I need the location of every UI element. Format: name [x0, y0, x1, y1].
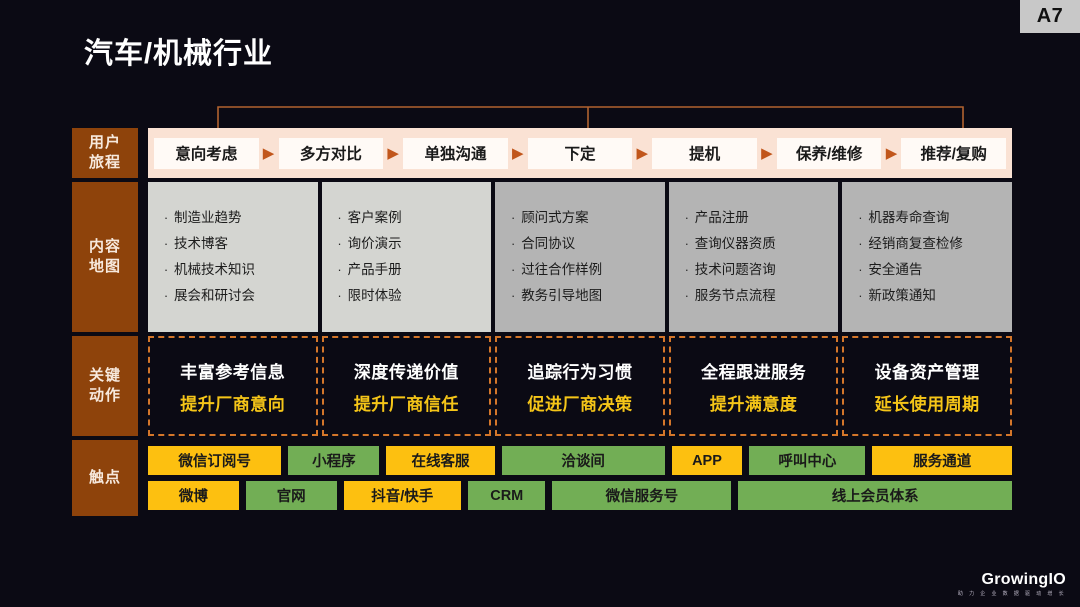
journey-arrow-icon: ▶ — [259, 146, 279, 161]
touchpoint-chip[interactable]: 服务通道 — [872, 446, 1012, 475]
key-action-cell: 追踪行为习惯促进厂商决策 — [495, 336, 665, 436]
content-map-item-label: 客户案例 — [348, 205, 402, 231]
key-action-goal: 促进厂商决策 — [527, 390, 632, 415]
journey-matrix: 用户 旅程 意向考虑▶多方对比▶单独沟通▶下定▶提机▶保养/维修▶推荐/复购 内… — [72, 128, 1012, 520]
journey-step[interactable]: 推荐/复购 — [901, 138, 1006, 169]
touchpoint-chip[interactable]: 线上会员体系 — [738, 481, 1012, 510]
content-map-item-label: 机械技术知识 — [174, 257, 255, 283]
content-map-item-label: 新政策通知 — [868, 283, 936, 309]
row-label-line2: 地图 — [89, 257, 121, 277]
key-action-goal: 提升厂商意向 — [180, 390, 285, 415]
content-map-item-label: 产品手册 — [348, 257, 402, 283]
content-map-item: ·机器寿命查询 — [852, 205, 1008, 231]
content-map-item: ·技术问题咨询 — [679, 257, 835, 283]
content-map-item: ·限时体验 — [332, 283, 488, 309]
row-label-line1: 关键 — [89, 366, 121, 386]
content-map-item: ·客户案例 — [332, 205, 488, 231]
content-map-item: ·询价演示 — [332, 231, 488, 257]
row-label-key-actions: 关键 动作 — [72, 336, 138, 436]
content-map-item: ·机械技术知识 — [158, 257, 314, 283]
row-label-content-map: 内容 地图 — [72, 182, 138, 332]
content-map-item-label: 机器寿命查询 — [868, 205, 949, 231]
content-map-item-label: 安全通告 — [868, 257, 922, 283]
journey-arrow-icon: ▶ — [632, 146, 652, 161]
bullet-icon: · — [332, 231, 348, 257]
key-action-goal: 延长使用周期 — [875, 390, 980, 415]
row-label-user-journey: 用户 旅程 — [72, 128, 138, 178]
brand-name: GrowingIO — [958, 571, 1066, 589]
content-map-cell: ·制造业趋势·技术博客·机械技术知识·展会和研讨会 — [148, 182, 318, 332]
row-label-line1: 触点 — [89, 468, 121, 488]
content-map-item-label: 询价演示 — [348, 231, 402, 257]
bullet-icon: · — [332, 257, 348, 283]
bullet-icon: · — [505, 231, 521, 257]
content-map-item: ·合同协议 — [505, 231, 661, 257]
touchpoint-chip[interactable]: CRM — [468, 481, 546, 510]
row-label-line2: 动作 — [89, 386, 121, 406]
key-action-cell: 全程跟进服务提升满意度 — [669, 336, 839, 436]
content-map-cell: ·顾问式方案·合同协议·过往合作样例·教务引导地图 — [495, 182, 665, 332]
bullet-icon: · — [679, 283, 695, 309]
bullet-icon: · — [158, 257, 174, 283]
content-map-item-label: 查询仪器资质 — [695, 231, 776, 257]
bullet-icon: · — [505, 257, 521, 283]
key-action-goal: 提升满意度 — [710, 390, 798, 415]
touchpoint-line-1: 微信订阅号小程序在线客服洽谈间APP呼叫中心服务通道 — [148, 446, 1012, 475]
touchpoint-chip[interactable]: 小程序 — [288, 446, 379, 475]
row-label-line1: 用户 — [89, 133, 121, 153]
content-map-item-label: 过往合作样例 — [521, 257, 602, 283]
touchpoint-chip[interactable]: 官网 — [246, 481, 337, 510]
bullet-icon: · — [679, 257, 695, 283]
content-map-item-label: 产品注册 — [695, 205, 749, 231]
row-user-journey: 用户 旅程 意向考虑▶多方对比▶单独沟通▶下定▶提机▶保养/维修▶推荐/复购 — [72, 128, 1012, 178]
content-map-item: ·新政策通知 — [852, 283, 1008, 309]
touchpoint-chip[interactable]: 微博 — [148, 481, 239, 510]
content-map-item: ·产品手册 — [332, 257, 488, 283]
touchpoint-chip[interactable]: 抖音/快手 — [344, 481, 461, 510]
bullet-icon: · — [852, 283, 868, 309]
content-map-item: ·顾问式方案 — [505, 205, 661, 231]
content-map-cell: ·产品注册·查询仪器资质·技术问题咨询·服务节点流程 — [669, 182, 839, 332]
content-map-cell: ·客户案例·询价演示·产品手册·限时体验 — [322, 182, 492, 332]
content-map-item-label: 教务引导地图 — [521, 283, 602, 309]
content-map-item: ·教务引导地图 — [505, 283, 661, 309]
journey-arrow-icon: ▶ — [881, 146, 901, 161]
content-map-item: ·技术博客 — [158, 231, 314, 257]
touchpoint-chip[interactable]: 微信服务号 — [552, 481, 731, 510]
content-map-item-label: 制造业趋势 — [174, 205, 242, 231]
touchpoint-chip[interactable]: APP — [672, 446, 743, 475]
journey-step[interactable]: 下定 — [528, 138, 633, 169]
page-title: 汽车/机械行业 — [84, 30, 273, 72]
key-action-title: 追踪行为习惯 — [527, 358, 632, 383]
journey-arrow-icon: ▶ — [508, 146, 528, 161]
content-map-item-label: 经销商复查检修 — [868, 231, 963, 257]
key-action-goal: 提升厂商信任 — [354, 390, 459, 415]
row-body-user-journey: 意向考虑▶多方对比▶单独沟通▶下定▶提机▶保养/维修▶推荐/复购 — [148, 128, 1012, 178]
content-map-item: ·服务节点流程 — [679, 283, 835, 309]
journey-step[interactable]: 保养/维修 — [777, 138, 882, 169]
key-action-title: 全程跟进服务 — [701, 358, 806, 383]
content-map-item-label: 技术博客 — [174, 231, 228, 257]
bullet-icon: · — [332, 205, 348, 231]
row-body-key-actions: 丰富参考信息提升厂商意向深度传递价值提升厂商信任追踪行为习惯促进厂商决策全程跟进… — [148, 336, 1012, 436]
content-map-item-label: 限时体验 — [348, 283, 402, 309]
content-map-item-label: 顾问式方案 — [521, 205, 589, 231]
content-map-item: ·产品注册 — [679, 205, 835, 231]
row-label-line1: 内容 — [89, 237, 121, 257]
row-touchpoints: 触点 微信订阅号小程序在线客服洽谈间APP呼叫中心服务通道 微博官网抖音/快手C… — [72, 440, 1012, 516]
touchpoint-chip[interactable]: 呼叫中心 — [749, 446, 865, 475]
key-action-cell: 丰富参考信息提升厂商意向 — [148, 336, 318, 436]
key-action-title: 丰富参考信息 — [180, 358, 285, 383]
row-key-actions: 关键 动作 丰富参考信息提升厂商意向深度传递价值提升厂商信任追踪行为习惯促进厂商… — [72, 336, 1012, 436]
row-content-map: 内容 地图 ·制造业趋势·技术博客·机械技术知识·展会和研讨会·客户案例·询价演… — [72, 182, 1012, 332]
brand-logo: GrowingIO 助 力 企 业 数 据 驱 动 增 长 — [958, 571, 1066, 597]
bullet-icon: · — [679, 231, 695, 257]
bullet-icon: · — [158, 283, 174, 309]
content-map-item-label: 技术问题咨询 — [695, 257, 776, 283]
touchpoint-chip[interactable]: 在线客服 — [386, 446, 494, 475]
content-map-item: ·过往合作样例 — [505, 257, 661, 283]
row-label-line2: 旅程 — [89, 153, 121, 173]
key-action-title: 设备资产管理 — [875, 358, 980, 383]
touchpoint-line-2: 微博官网抖音/快手CRM微信服务号线上会员体系 — [148, 481, 1012, 510]
journey-step[interactable]: 单独沟通 — [403, 138, 508, 169]
touchpoint-chip[interactable]: 洽谈间 — [502, 446, 665, 475]
journey-step[interactable]: 多方对比 — [279, 138, 384, 169]
bullet-icon: · — [158, 205, 174, 231]
journey-arrow-icon: ▶ — [757, 146, 777, 161]
content-map-item-label: 服务节点流程 — [695, 283, 776, 309]
bullet-icon: · — [852, 205, 868, 231]
brand-tagline: 助 力 企 业 数 据 驱 动 增 长 — [958, 590, 1066, 597]
bullet-icon: · — [505, 205, 521, 231]
row-label-touchpoints: 触点 — [72, 440, 138, 516]
touchpoint-chip[interactable]: 微信订阅号 — [148, 446, 281, 475]
journey-step[interactable]: 提机 — [652, 138, 757, 169]
row-body-touchpoints: 微信订阅号小程序在线客服洽谈间APP呼叫中心服务通道 微博官网抖音/快手CRM微… — [148, 440, 1012, 516]
content-map-item: ·制造业趋势 — [158, 205, 314, 231]
row-body-content-map: ·制造业趋势·技术博客·机械技术知识·展会和研讨会·客户案例·询价演示·产品手册… — [148, 182, 1012, 332]
bullet-icon: · — [679, 205, 695, 231]
bullet-icon: · — [505, 283, 521, 309]
key-action-cell: 设备资产管理延长使用周期 — [842, 336, 1012, 436]
bullet-icon: · — [158, 231, 174, 257]
content-map-item-label: 合同协议 — [521, 231, 575, 257]
key-action-title: 深度传递价值 — [354, 358, 459, 383]
content-map-item: ·安全通告 — [852, 257, 1008, 283]
content-map-item: ·经销商复查检修 — [852, 231, 1008, 257]
content-map-cell: ·机器寿命查询·经销商复查检修·安全通告·新政策通知 — [842, 182, 1012, 332]
page-marker-label: A7 — [1037, 5, 1064, 28]
page-marker: A7 — [1020, 0, 1080, 33]
content-map-item: ·展会和研讨会 — [158, 283, 314, 309]
bullet-icon: · — [852, 231, 868, 257]
content-map-item-label: 展会和研讨会 — [174, 283, 255, 309]
journey-step-strip: 意向考虑▶多方对比▶单独沟通▶下定▶提机▶保养/维修▶推荐/复购 — [148, 128, 1012, 178]
bullet-icon: · — [852, 257, 868, 283]
journey-step[interactable]: 意向考虑 — [154, 138, 259, 169]
journey-arrow-icon: ▶ — [383, 146, 403, 161]
bullet-icon: · — [332, 283, 348, 309]
key-action-cell: 深度传递价值提升厂商信任 — [322, 336, 492, 436]
content-map-item: ·查询仪器资质 — [679, 231, 835, 257]
